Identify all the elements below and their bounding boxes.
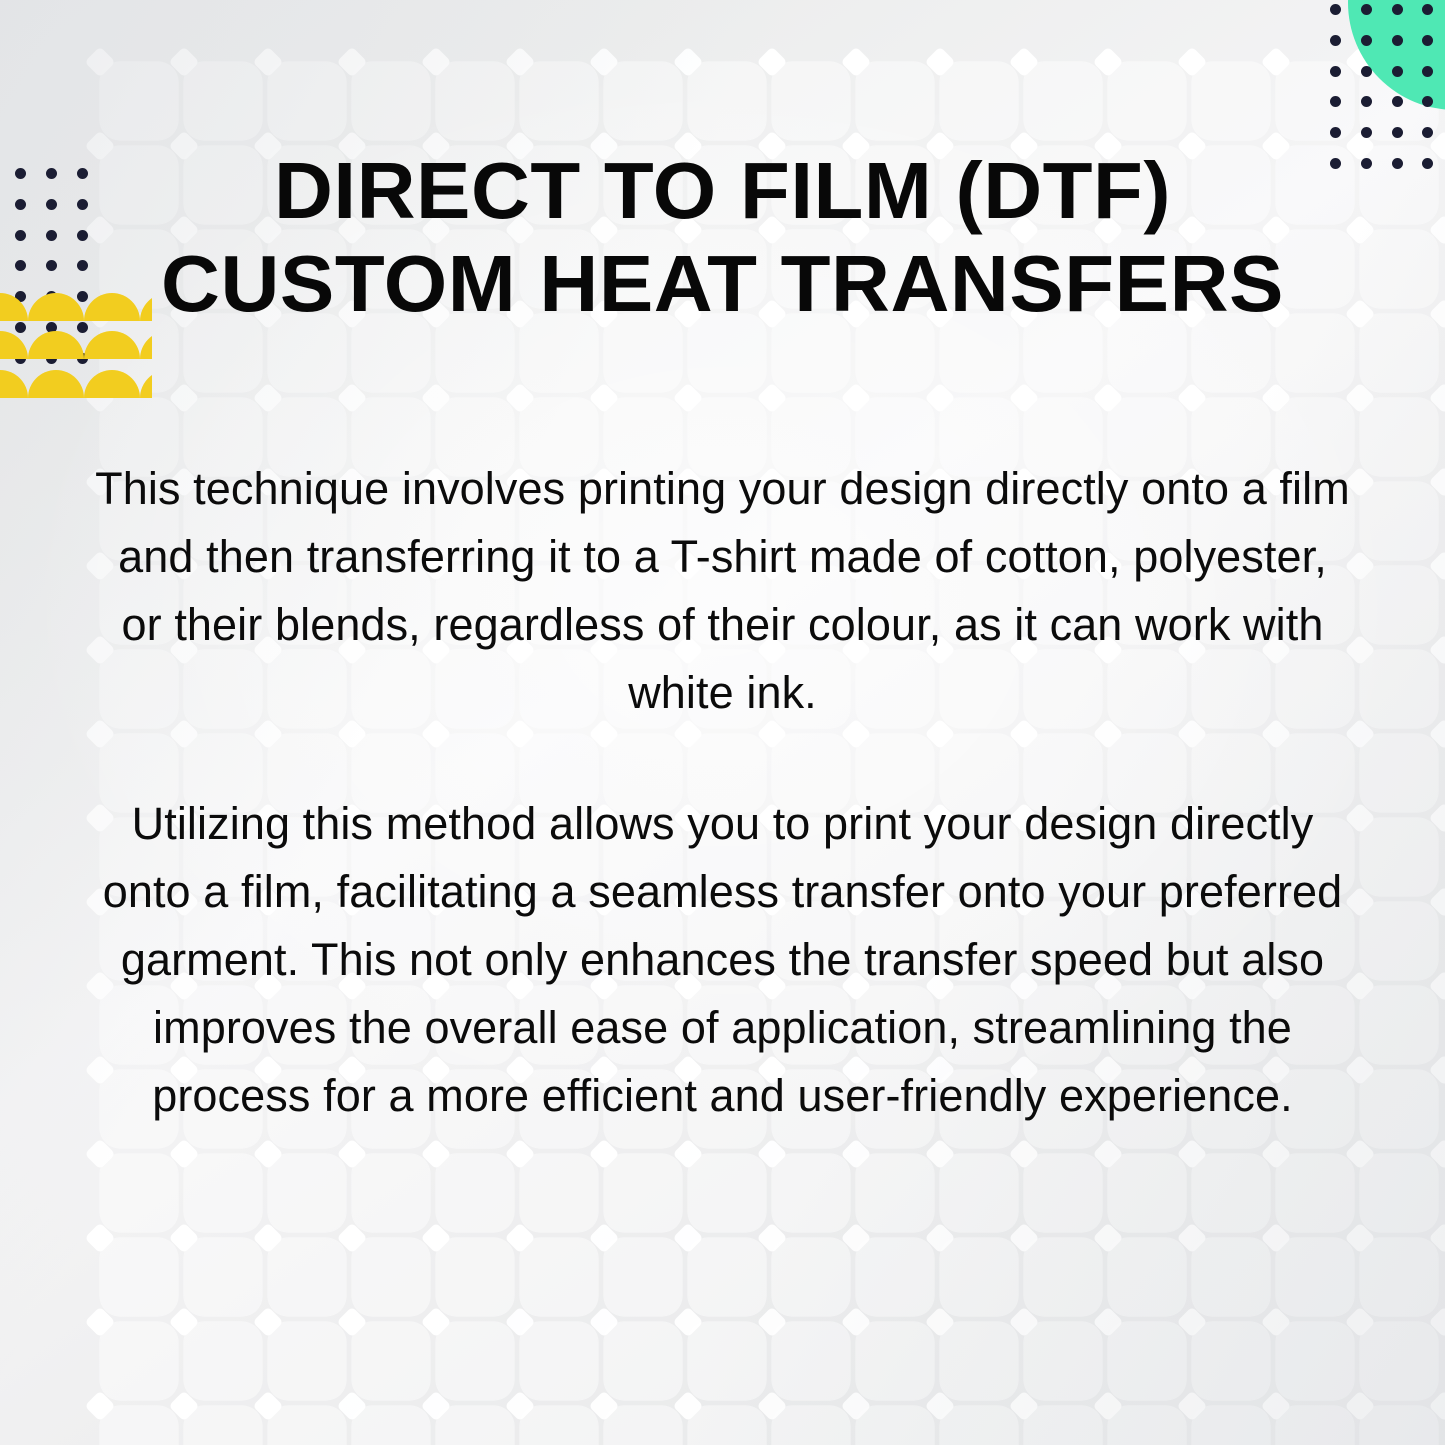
- paragraph-block-1: This technique involves printing your de…: [0, 455, 1445, 727]
- headline-line-2: CUSTOM HEAT TRANSFERS: [47, 238, 1399, 331]
- headline-block: DIRECT TO FILM (DTF) CUSTOM HEAT TRANSFE…: [0, 145, 1445, 331]
- body-paragraph-2: Utilizing this method allows you to prin…: [85, 790, 1360, 1130]
- page-title: DIRECT TO FILM (DTF) CUSTOM HEAT TRANSFE…: [0, 145, 1445, 331]
- body-paragraph-1: This technique involves printing your de…: [95, 455, 1350, 727]
- headline-line-1: DIRECT TO FILM (DTF): [47, 145, 1399, 238]
- poster-canvas: DIRECT TO FILM (DTF) CUSTOM HEAT TRANSFE…: [0, 0, 1445, 1445]
- poster-content: DIRECT TO FILM (DTF) CUSTOM HEAT TRANSFE…: [0, 0, 1445, 1445]
- paragraph-block-2: Utilizing this method allows you to prin…: [0, 790, 1445, 1130]
